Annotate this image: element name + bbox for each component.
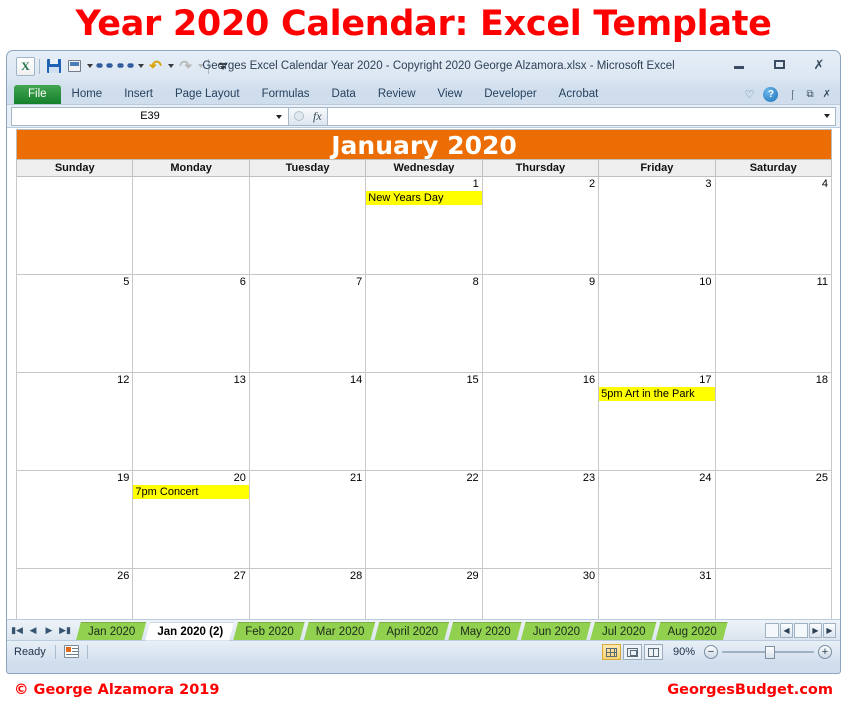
insert-function-icon[interactable]: fx [313,109,322,124]
excel-window: X ⚭⚭ ⚭⚭ ↶ ↷ Georges Excel Calendar Year … [6,50,841,674]
formula-bar: E39 fx [7,104,840,127]
calendar-day-number: 16 [483,373,598,387]
day-header-thursday: Thursday [482,160,598,177]
day-header-tuesday: Tuesday [249,160,365,177]
day-header-monday: Monday [133,160,249,177]
calendar-day-number: 3 [599,177,714,191]
sheet-tab[interactable]: Aug 2020 [656,622,728,641]
formula-input[interactable] [328,107,836,126]
calendar-day-number [133,177,248,191]
calendar-day-number [716,569,831,583]
calendar-day-cell[interactable]: 7 [249,275,365,373]
calendar-day-cell[interactable]: 30 [482,569,598,620]
footer-copyright: © George Alzamora 2019 [14,682,220,698]
tab-view[interactable]: View [427,85,474,104]
calendar-day-cell[interactable] [133,177,249,275]
calendar-day-cell[interactable]: 2 [482,177,598,275]
name-box-value: E39 [140,110,160,122]
expand-formula-bar-icon[interactable] [824,114,830,118]
status-divider [55,645,56,659]
name-box[interactable]: E39 [11,107,289,126]
page-footer: © George Alzamora 2019 GeorgesBudget.com [0,678,847,702]
calendar-day-number: 7 [250,275,365,289]
tab-data[interactable]: Data [321,85,367,104]
calendar-day-cell[interactable] [17,177,133,275]
scroll-left-icon[interactable]: ◀ [780,623,793,638]
calendar-day-number: 13 [133,373,248,387]
page-title: Year 2020 Calendar: Excel Template [0,0,847,48]
worksheet-area: January 2020 Sunday Monday Tuesday Wedne… [7,127,840,619]
sheet-tab[interactable]: Jan 2020 (2) [145,622,234,641]
calendar-day-cell[interactable]: 22 [366,471,482,569]
calendar-header-row: Sunday Monday Tuesday Wednesday Thursday… [17,160,832,177]
calendar-day-number: 12 [17,373,132,387]
excel-logo-icon: X [15,56,36,76]
tab-file[interactable]: File [14,85,61,104]
tab-insert[interactable]: Insert [113,85,164,104]
sheet-tabs: Jan 2020Jan 2020 (2)Feb 2020Mar 2020Apri… [76,620,761,641]
calendar-day-cell[interactable]: 5 [17,275,133,373]
calendar-event[interactable]: New Years Day [366,191,482,205]
calendar-day-cell[interactable]: 175pm Art in the Park [599,373,715,471]
find-icon[interactable]: ⚭⚭ [94,56,115,76]
redo-dropdown-icon[interactable] [196,56,205,76]
print-preview-dropdown-icon[interactable] [85,56,94,76]
calendar-day-number: 19 [17,471,132,485]
tab-scroll-controls[interactable]: ◀ ▶ ▶ [761,623,840,638]
day-header-wednesday: Wednesday [366,160,482,177]
sheet-nav-buttons[interactable]: ▮◀ ◀ ▶ ▶▮ [10,623,76,638]
calendar-day-cell[interactable] [249,177,365,275]
formula-fx-group[interactable]: fx [289,107,328,126]
calendar-day-number: 15 [366,373,481,387]
tab-developer[interactable]: Developer [473,85,547,104]
close-icon[interactable]: ✗ [806,56,832,73]
customize-qat-icon[interactable] [212,56,233,76]
sheet-tab[interactable]: April 2020 [374,622,449,641]
calendar-day-number: 25 [716,471,831,485]
calendar-day-cell[interactable]: 29 [366,569,482,620]
calendar-day-cell[interactable]: 12 [17,373,133,471]
calendar-day-cell[interactable]: 14 [249,373,365,471]
calendar-day-number: 9 [483,275,598,289]
day-header-saturday: Saturday [715,160,831,177]
tab-split-handle[interactable] [765,623,779,638]
sheet-tab[interactable]: Jul 2020 [590,622,656,641]
h-scroll-thumb[interactable] [794,623,808,638]
find-next-icon[interactable]: ⚭⚭ [115,56,136,76]
calendar-day-number: 14 [250,373,365,387]
calendar-day-cell[interactable]: 15 [366,373,482,471]
calendar-day-number: 31 [599,569,714,583]
calendar-day-cell[interactable]: 16 [482,373,598,471]
sheet-tab[interactable]: May 2020 [448,622,522,641]
redo-icon[interactable]: ↷ [175,56,196,76]
save-icon[interactable] [43,56,64,76]
undo-icon[interactable]: ↶ [145,56,166,76]
calendar-day-number: 17 [599,373,714,387]
calendar-day-cell[interactable]: 11 [715,275,831,373]
calendar-day-number: 11 [716,275,831,289]
next-sheet-icon[interactable]: ▶ [42,623,56,638]
page-layout-view-icon[interactable] [623,644,642,660]
calendar-day-cell[interactable]: 21 [249,471,365,569]
calendar-body: 1New Years Day2345678910111213141516175p… [17,177,832,620]
calendar-day-cell[interactable]: 27 [133,569,249,620]
tab-page-layout[interactable]: Page Layout [164,85,251,104]
calendar-month-title: January 2020 [16,129,832,159]
help-icon[interactable]: ? [763,87,778,102]
restore-icon[interactable] [766,56,792,73]
minimize-ribbon-icon[interactable]: ⎰ [787,87,797,102]
qat-divider-2 [208,59,209,74]
page-break-view-icon[interactable] [644,644,663,660]
tab-home[interactable]: Home [61,85,114,104]
calendar-day-cell[interactable]: 19 [17,471,133,569]
heart-icon[interactable]: ♡ [745,88,755,101]
calendar-week-row: 567891011 [17,275,832,373]
calendar-day-cell[interactable] [715,569,831,620]
sheet-tab-bar: ▮◀ ◀ ▶ ▶▮ Jan 2020Jan 2020 (2)Feb 2020Ma… [7,619,840,640]
calendar-day-cell[interactable]: 23 [482,471,598,569]
status-state: Ready [14,646,55,658]
calendar-day-cell[interactable]: 18 [715,373,831,471]
minimize-icon[interactable] [726,56,752,73]
sheet-tab[interactable]: Mar 2020 [304,622,376,641]
calendar-day-number: 22 [366,471,481,485]
tab-formulas[interactable]: Formulas [251,85,321,104]
calendar-day-cell[interactable]: 8 [366,275,482,373]
calendar-week-row: 1213141516175pm Art in the Park18 [17,373,832,471]
calendar-day-number: 6 [133,275,248,289]
calendar-day-number: 20 [133,471,248,485]
calendar-day-number [17,177,132,191]
footer-website: GeorgesBudget.com [667,682,833,698]
status-bar: Ready 90% − + [7,640,840,662]
calendar-grid: Sunday Monday Tuesday Wednesday Thursday… [16,159,832,619]
cancel-enter-icon[interactable] [294,111,304,121]
calendar: January 2020 Sunday Monday Tuesday Wedne… [16,129,832,619]
last-sheet-icon[interactable]: ▶▮ [58,623,72,638]
calendar-day-number: 26 [17,569,132,583]
calendar-day-cell[interactable]: 207pm Concert [133,471,249,569]
macro-record-icon[interactable] [64,645,79,658]
title-bar: X ⚭⚭ ⚭⚭ ↶ ↷ Georges Excel Calendar Year … [7,51,840,81]
sheet-tab[interactable]: Jan 2020 [76,622,146,641]
calendar-day-number [250,177,365,191]
scroll-right-icon[interactable]: ▶ [809,623,822,638]
calendar-day-number: 21 [250,471,365,485]
restore-window-icon[interactable]: ⧉ [806,89,813,100]
calendar-day-cell[interactable]: 9 [482,275,598,373]
calendar-day-cell[interactable]: 3 [599,177,715,275]
calendar-day-cell[interactable]: 13 [133,373,249,471]
calendar-week-row: 262728293031 [17,569,832,620]
calendar-day-number: 5 [17,275,132,289]
calendar-day-cell[interactable]: 6 [133,275,249,373]
window-controls[interactable]: ✗ [726,56,832,73]
ribbon-right-controls: ♡ ? ⎰ ⧉ ✗ [745,87,831,102]
undo-dropdown-icon[interactable] [166,56,175,76]
sheet-tab[interactable]: Feb 2020 [233,622,305,641]
calendar-day-cell[interactable]: 4 [715,177,831,275]
calendar-event[interactable]: 7pm Concert [133,485,249,499]
prev-sheet-icon[interactable]: ◀ [26,623,40,638]
calendar-day-number: 2 [483,177,598,191]
calendar-day-number: 28 [250,569,365,583]
find-dropdown-icon[interactable] [136,56,145,76]
print-preview-icon[interactable] [64,56,85,76]
normal-view-icon[interactable] [602,644,621,660]
calendar-day-cell[interactable]: 31 [599,569,715,620]
status-right-controls: 90% − + [602,641,832,663]
chevron-down-icon[interactable] [276,115,282,119]
calendar-day-cell[interactable]: 26 [17,569,133,620]
calendar-day-number: 10 [599,275,714,289]
calendar-day-cell[interactable]: 10 [599,275,715,373]
day-header-sunday: Sunday [17,160,133,177]
zoom-slider-thumb[interactable] [765,646,775,659]
scroll-end-icon[interactable]: ▶ [823,623,836,638]
calendar-day-cell[interactable]: 25 [715,471,831,569]
calendar-day-number: 1 [366,177,481,191]
tab-review[interactable]: Review [367,85,427,104]
calendar-day-number: 30 [483,569,598,583]
calendar-day-cell[interactable]: 24 [599,471,715,569]
tab-acrobat[interactable]: Acrobat [548,85,610,104]
calendar-day-number: 29 [366,569,481,583]
close-window-icon[interactable]: ✗ [823,89,831,100]
calendar-day-number: 4 [716,177,831,191]
calendar-day-cell[interactable]: 28 [249,569,365,620]
sheet-tab[interactable]: Jun 2020 [521,622,591,641]
calendar-event[interactable]: 5pm Art in the Park [599,387,715,401]
calendar-day-number: 24 [599,471,714,485]
calendar-week-row: 1New Years Day234 [17,177,832,275]
calendar-day-number: 23 [483,471,598,485]
qat-divider [39,59,40,74]
zoom-level[interactable]: 90% [665,646,704,658]
calendar-day-number: 18 [716,373,831,387]
ribbon-tab-bar: File Home Insert Page Layout Formulas Da… [7,81,840,104]
zoom-out-button[interactable]: − [704,645,718,659]
day-header-friday: Friday [599,160,715,177]
calendar-day-number: 27 [133,569,248,583]
calendar-week-row: 19207pm Concert2122232425 [17,471,832,569]
status-divider-2 [87,645,88,659]
quick-access-toolbar[interactable]: X ⚭⚭ ⚭⚭ ↶ ↷ [15,55,233,77]
zoom-in-button[interactable]: + [818,645,832,659]
zoom-slider[interactable] [722,645,814,659]
first-sheet-icon[interactable]: ▮◀ [10,623,24,638]
calendar-day-number: 8 [366,275,481,289]
calendar-day-cell[interactable]: 1New Years Day [366,177,482,275]
